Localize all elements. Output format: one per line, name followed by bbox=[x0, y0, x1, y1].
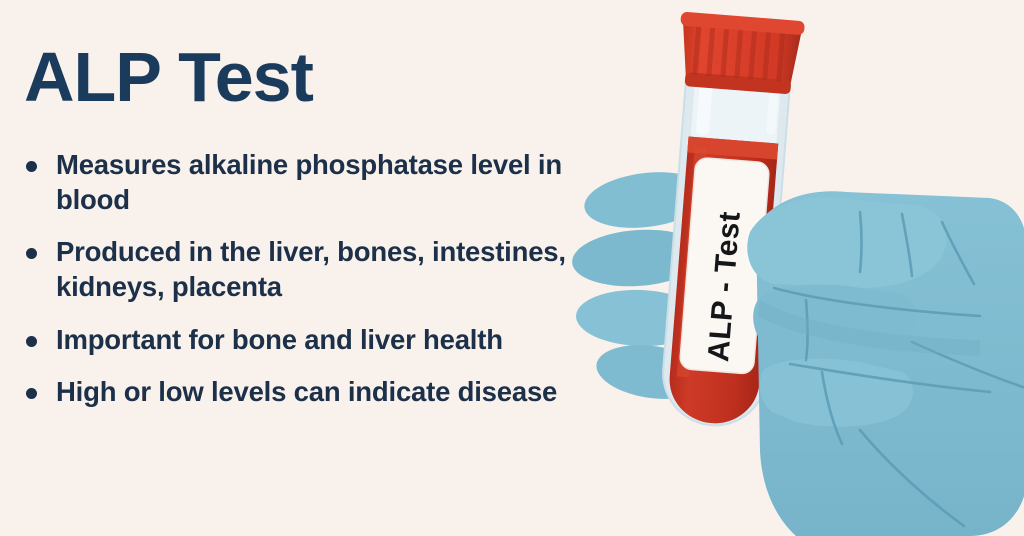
glove-hand-front bbox=[747, 191, 1024, 536]
list-item-label: Produced in the liver, bones, intestines… bbox=[56, 236, 566, 302]
text-panel: ALP Test Measures alkaline phosphatase l… bbox=[0, 0, 600, 536]
list-item-label: High or low levels can indicate disease bbox=[56, 376, 557, 407]
infographic-canvas: ALP Test Measures alkaline phosphatase l… bbox=[0, 0, 1024, 536]
gloved-hand-test-tube-illustration: ALP - Test bbox=[560, 0, 1024, 536]
list-item-label: Measures alkaline phosphatase level in b… bbox=[56, 149, 562, 215]
bullet-list: Measures alkaline phosphatase level in b… bbox=[12, 148, 592, 410]
list-item-label: Important for bone and liver health bbox=[56, 324, 503, 355]
tube-cap bbox=[676, 12, 805, 96]
bullet-dot-icon bbox=[26, 388, 37, 399]
bullet-dot-icon bbox=[26, 248, 37, 259]
bullet-dot-icon bbox=[26, 336, 37, 347]
list-item: Important for bone and liver health bbox=[12, 323, 592, 358]
illustration-panel: ALP - Test bbox=[560, 0, 1024, 536]
list-item: High or low levels can indicate disease bbox=[12, 375, 592, 410]
list-item: Measures alkaline phosphatase level in b… bbox=[12, 148, 592, 217]
bullet-dot-icon bbox=[26, 161, 37, 172]
list-item: Produced in the liver, bones, intestines… bbox=[12, 235, 592, 304]
glove-index-finger bbox=[747, 197, 946, 288]
page-title: ALP Test bbox=[24, 42, 313, 112]
